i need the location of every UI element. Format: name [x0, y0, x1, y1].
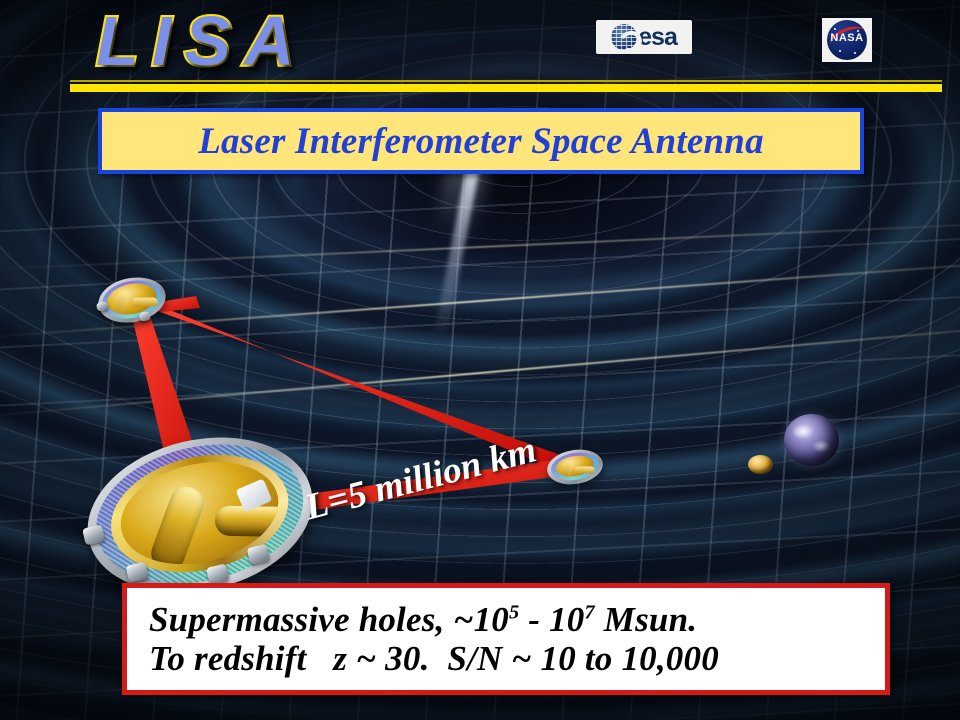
earth	[784, 414, 839, 466]
lisa-slide: L=5 million km LISA esa NASA Laser Inter…	[0, 0, 960, 720]
subtitle-text: Laser Interferometer Space Antenna	[198, 120, 764, 163]
telescope-tube-1	[562, 460, 575, 478]
nasa-logo: NASA	[822, 18, 872, 62]
title-underline	[70, 84, 942, 92]
telescope-tube-2	[132, 297, 158, 306]
esa-logo: esa	[596, 20, 692, 54]
esa-globe-icon	[611, 24, 637, 50]
caption-line-1-c: Msun.	[595, 600, 697, 639]
caption-line-1: Supermassive holes, ~105 - 107 Msun.	[149, 600, 885, 639]
telescope-tube-2	[575, 466, 595, 473]
subtitle-banner: Laser Interferometer Space Antenna	[98, 108, 864, 174]
nasa-meatball-icon: NASA	[827, 20, 867, 60]
caption-box: Supermassive holes, ~105 - 107 Msun. To …	[122, 583, 890, 695]
caption-line-2: To redshift z ~ 30. S/N ~ 10 to 10,000	[149, 639, 885, 678]
telescope-tube-1	[147, 482, 208, 574]
telescope-tube-1	[114, 291, 130, 315]
caption-exponent-7: 7	[584, 601, 594, 623]
caption-exponent-5: 5	[509, 601, 519, 623]
page-title: LISA	[96, 6, 307, 76]
nasa-wordmark: NASA	[827, 32, 867, 44]
caption-line-1-a: Supermassive holes, ~10	[149, 600, 509, 639]
telescope-tube-2	[215, 506, 289, 538]
caption-line-1-b: - 10	[519, 600, 584, 639]
esa-wordmark: esa	[638, 23, 677, 52]
moon	[748, 455, 773, 474]
